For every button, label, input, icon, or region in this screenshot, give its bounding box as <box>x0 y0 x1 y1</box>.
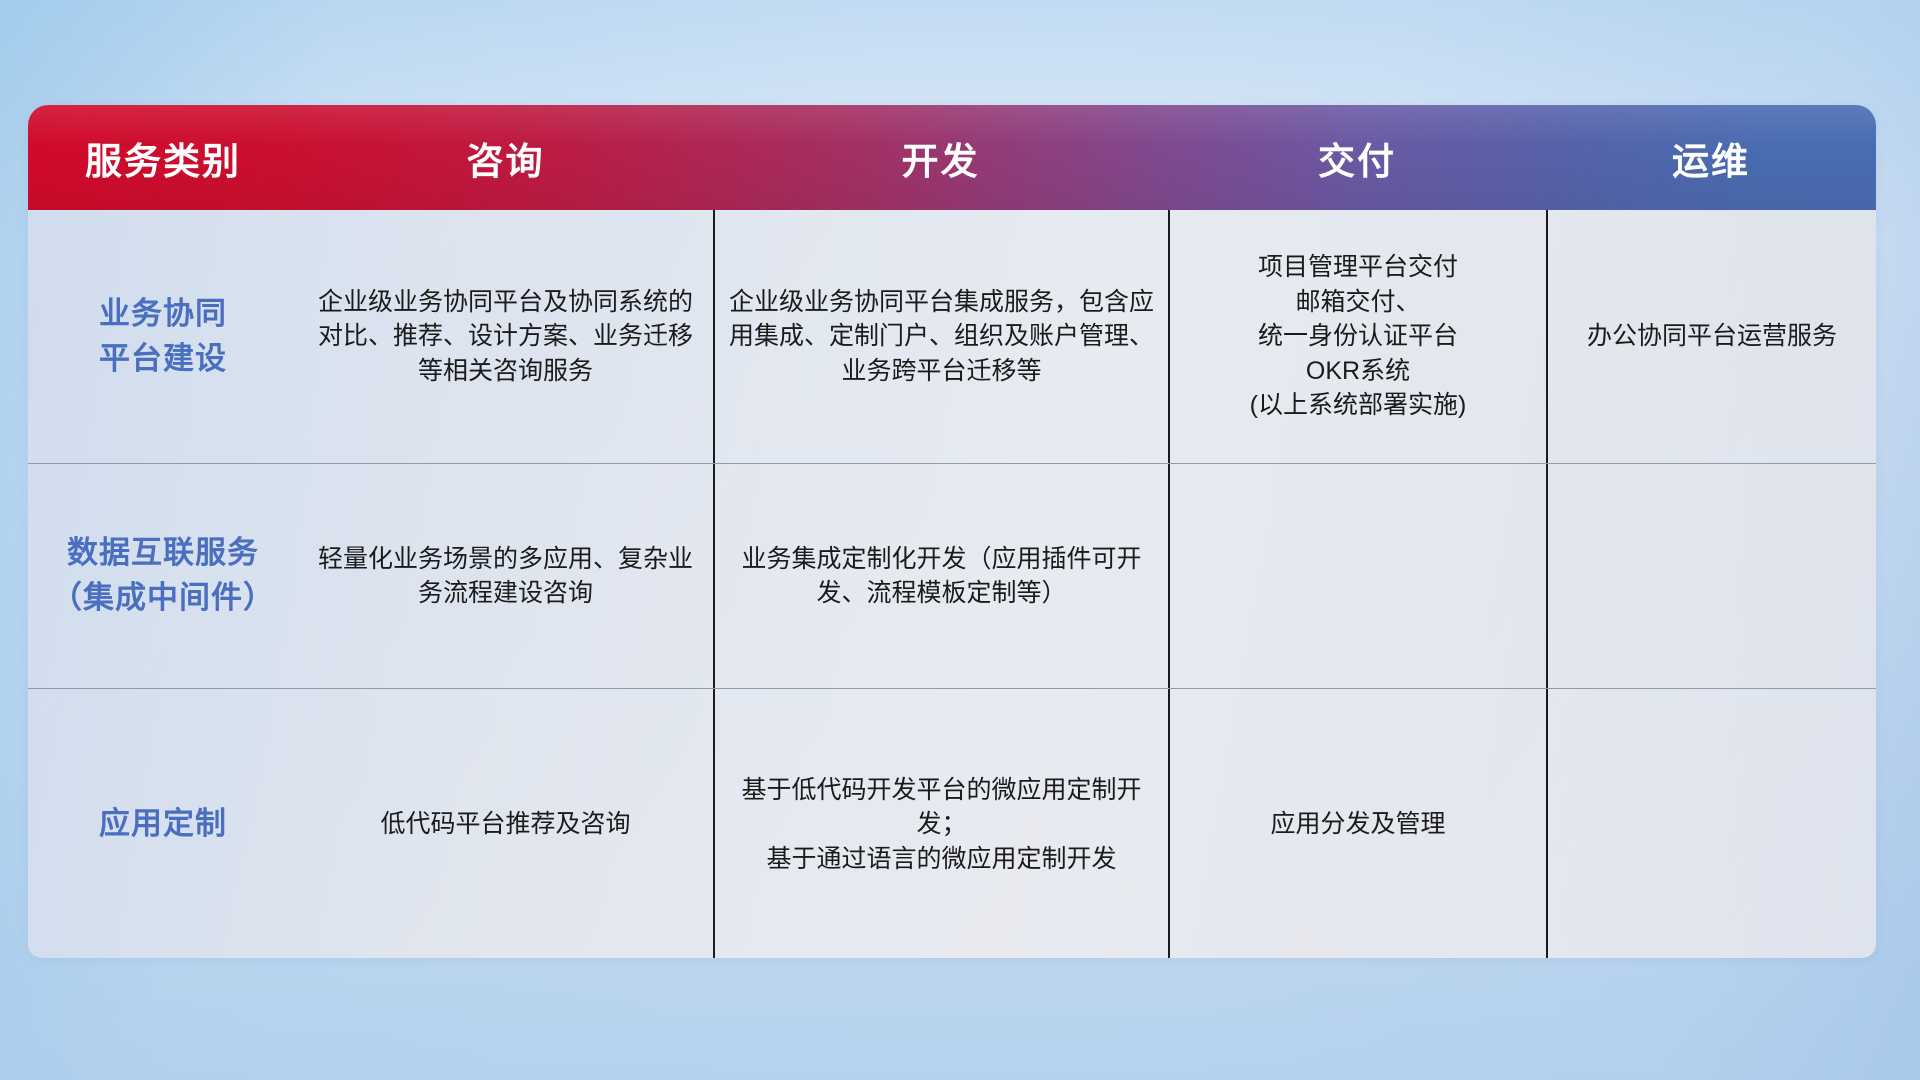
cell-development-text: 基于低代码开发平台的微应用定制开发；基于通过语言的微应用定制开发 <box>729 773 1154 877</box>
cell-operations <box>1546 689 1876 958</box>
cell-delivery: 项目管理平台交付邮箱交付、统一身份认证平台OKR系统(以上系统部署实施) <box>1168 210 1546 463</box>
cell-operations: 办公协同平台运营服务 <box>1546 210 1876 463</box>
row-category-text: 应用定制 <box>99 802 227 847</box>
row-category-text: 数据互联服务（集成中间件） <box>51 531 275 621</box>
row-category-label: 业务协同平台建设 <box>28 210 298 463</box>
cell-consulting: 低代码平台推荐及咨询 <box>298 689 713 958</box>
header-cell-development: 开发 <box>713 131 1168 185</box>
cell-development: 基于低代码开发平台的微应用定制开发；基于通过语言的微应用定制开发 <box>713 689 1168 958</box>
table-header-row: 服务类别 咨询 开发 交付 运维 <box>28 105 1876 210</box>
cell-consulting: 企业级业务协同平台及协同系统的对比、推荐、设计方案、业务迁移等相关咨询服务 <box>298 210 713 463</box>
table-body: 业务协同平台建设 企业级业务协同平台及协同系统的对比、推荐、设计方案、业务迁移等… <box>28 210 1876 958</box>
table-row: 业务协同平台建设 企业级业务协同平台及协同系统的对比、推荐、设计方案、业务迁移等… <box>28 210 1876 464</box>
row-category-label: 数据互联服务（集成中间件） <box>28 464 298 688</box>
header-cell-service-category: 服务类别 <box>28 131 298 185</box>
row-category-text: 业务协同平台建设 <box>99 292 227 382</box>
cell-development: 业务集成定制化开发（应用插件可开发、流程模板定制等） <box>713 464 1168 688</box>
cell-delivery <box>1168 464 1546 688</box>
service-matrix-table: 服务类别 咨询 开发 交付 运维 业务协同平台建设 企业级业务协同平台及协同系统… <box>28 105 1876 958</box>
cell-consulting: 轻量化业务场景的多应用、复杂业务流程建设咨询 <box>298 464 713 688</box>
cell-delivery-text: 项目管理平台交付邮箱交付、统一身份认证平台OKR系统(以上系统部署实施) <box>1250 250 1467 423</box>
header-cell-consulting: 咨询 <box>298 131 713 185</box>
cell-operations <box>1546 464 1876 688</box>
header-cell-operations: 运维 <box>1546 131 1876 185</box>
cell-development: 企业级业务协同平台集成服务，包含应用集成、定制门户、组织及账户管理、业务跨平台迁… <box>713 210 1168 463</box>
table-row: 数据互联服务（集成中间件） 轻量化业务场景的多应用、复杂业务流程建设咨询 业务集… <box>28 464 1876 689</box>
table-row: 应用定制 低代码平台推荐及咨询 基于低代码开发平台的微应用定制开发；基于通过语言… <box>28 689 1876 958</box>
row-category-label: 应用定制 <box>28 689 298 958</box>
cell-delivery: 应用分发及管理 <box>1168 689 1546 958</box>
header-cell-delivery: 交付 <box>1168 131 1546 185</box>
